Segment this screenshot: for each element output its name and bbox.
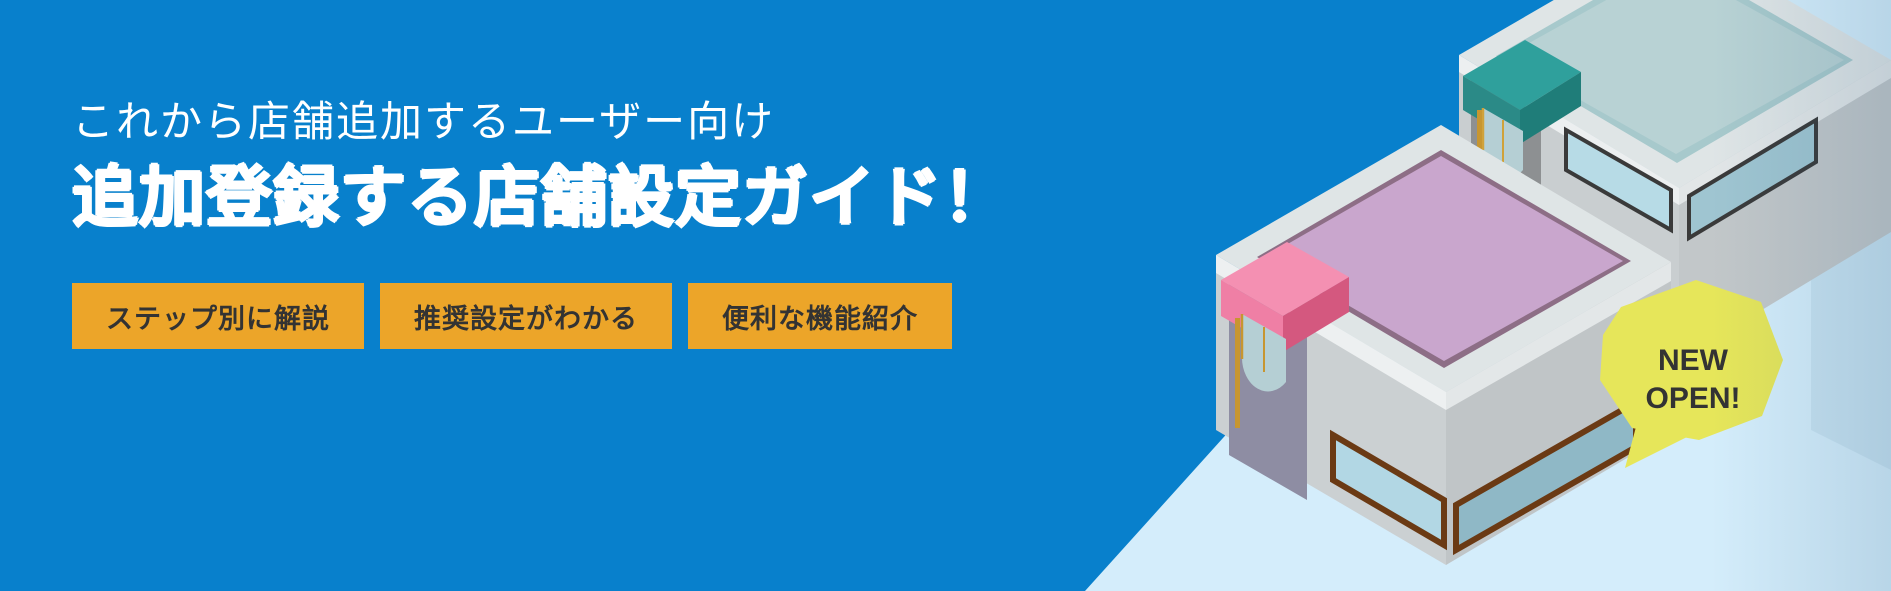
banner-tag-row: ステップ別に解説 推奨設定がわかる 便利な機能紹介 xyxy=(72,283,1082,349)
banner-content: これから店舗追加するユーザー向け 追加登録する店舗設定ガイド！ ステップ別に解説… xyxy=(72,96,1082,349)
store-setup-guide-banner: NEW OPEN! これから店舗追加するユーザー向け 追加登録する店舗設定ガイド… xyxy=(0,0,1891,591)
tag-step-by-step[interactable]: ステップ別に解説 xyxy=(72,283,364,349)
banner-kicker: これから店舗追加するユーザー向け xyxy=(72,96,1082,149)
tag-recommended-settings[interactable]: 推奨設定がわかる xyxy=(380,283,672,349)
banner-headline: 追加登録する店舗設定ガイド！ xyxy=(72,157,1082,238)
tag-useful-features[interactable]: 便利な機能紹介 xyxy=(688,283,952,349)
